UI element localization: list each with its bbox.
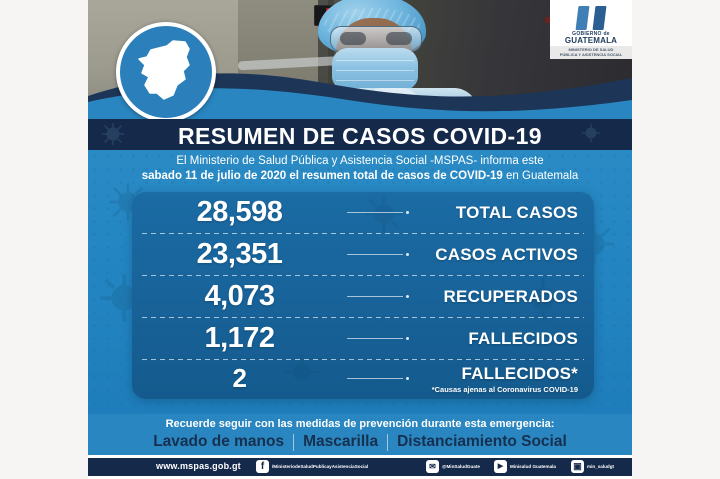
stat-value: 4,073 [132, 280, 347, 313]
gov-logo-ministry: MINISTERIO DE SALUDPÚBLICA Y ASISTENCIA … [550, 46, 632, 59]
social-twitter[interactable]: ✉ @MinSaludGuate [426, 460, 480, 473]
stat-value: 28,598 [132, 196, 347, 229]
logo-bars-icon [575, 6, 609, 30]
guatemala-map-icon [133, 37, 197, 103]
connector-line [347, 253, 409, 256]
subtitle-part1: El Ministerio de Salud Pública y Asisten… [176, 155, 543, 167]
subtitle-part2: en Guatemala [503, 170, 578, 182]
page-title: RESUMEN DE CASOS COVID-19 [88, 123, 632, 150]
prevention-item-handwashing: Lavado de manos [144, 433, 293, 451]
stat-label: CASOS ACTIVOS [409, 245, 594, 265]
connector-line [347, 337, 409, 340]
hospital-photo-header: GOBIERNO de GUATEMALA MINISTERIO DE SALU… [88, 0, 632, 120]
screenshot-canvas: GOBIERNO de GUATEMALA MINISTERIO DE SALU… [0, 0, 720, 479]
instagram-icon[interactable]: ▣ [571, 460, 584, 473]
guatemala-map-emblem [116, 22, 216, 120]
instagram-handle: min_saludgt [587, 464, 614, 469]
social-youtube[interactable]: ▶ Minisalud Guatemala [494, 460, 556, 473]
connector-line [347, 211, 409, 214]
stat-value: 1,172 [132, 322, 347, 355]
website-url[interactable]: www.mspas.gob.gt [156, 461, 241, 471]
stat-row: 1,172 FALLECIDOS [132, 318, 594, 359]
stat-label: FALLECIDOS* *Causas ajenas al Coronaviru… [409, 364, 594, 394]
prevention-item-mask: Mascarilla [294, 433, 387, 451]
prevention-banner: Recuerde seguir con las medidas de preve… [88, 414, 632, 455]
stat-row: 4,073 RECUPERADOS [132, 276, 594, 317]
stat-label: RECUPERADOS [409, 287, 594, 307]
social-instagram[interactable]: ▣ min_saludgt [571, 460, 614, 473]
footer: www.mspas.gob.gt f /MinisteriodeSaludPub… [88, 455, 632, 479]
youtube-icon[interactable]: ▶ [494, 460, 507, 473]
youtube-handle: Minisalud Guatemala [510, 464, 556, 469]
stat-label-text: FALLECIDOS* [462, 364, 579, 383]
social-facebook[interactable]: f /MinisteriodeSaludPublicayAsistenciaSo… [256, 460, 368, 473]
facebook-icon[interactable]: f [256, 460, 269, 473]
subtitle: El Ministerio de Salud Pública y Asisten… [98, 154, 622, 184]
gov-logo-line2: GUATEMALA [550, 36, 632, 45]
covid-infographic: GOBIERNO de GUATEMALA MINISTERIO DE SALU… [88, 0, 632, 479]
stat-row: 28,598 TOTAL CASOS [132, 192, 594, 233]
stat-value: 2 [132, 363, 347, 394]
stat-row: 23,351 CASOS ACTIVOS [132, 234, 594, 275]
stat-label: FALLECIDOS [409, 329, 594, 349]
connector-line [347, 295, 409, 298]
stats-card: 28,598 TOTAL CASOS 23,351 CASOS ACTIVOS … [132, 192, 594, 399]
twitter-handle: @MinSaludGuate [442, 464, 480, 469]
prevention-item-distancing: Distanciamiento Social [388, 433, 576, 451]
prevention-heading: Recuerde seguir con las medidas de preve… [88, 418, 632, 430]
stat-label: TOTAL CASOS [409, 203, 594, 223]
government-logo: GOBIERNO de GUATEMALA MINISTERIO DE SALU… [550, 0, 632, 57]
twitter-icon[interactable]: ✉ [426, 460, 439, 473]
connector-line [347, 377, 409, 380]
stat-value: 23,351 [132, 238, 347, 271]
stat-row: 2 FALLECIDOS* *Causas ajenas al Coronavi… [132, 358, 594, 399]
subtitle-date-bold: sabado 11 de julio de 2020 el resumen to… [142, 170, 503, 182]
facebook-handle: /MinisteriodeSaludPublicayAsistenciaSoci… [272, 464, 368, 469]
prevention-items: Lavado de manos Mascarilla Distanciamien… [88, 433, 632, 451]
stat-footnote: *Causas ajenas al Coronavirus COVID-19 [409, 385, 578, 394]
